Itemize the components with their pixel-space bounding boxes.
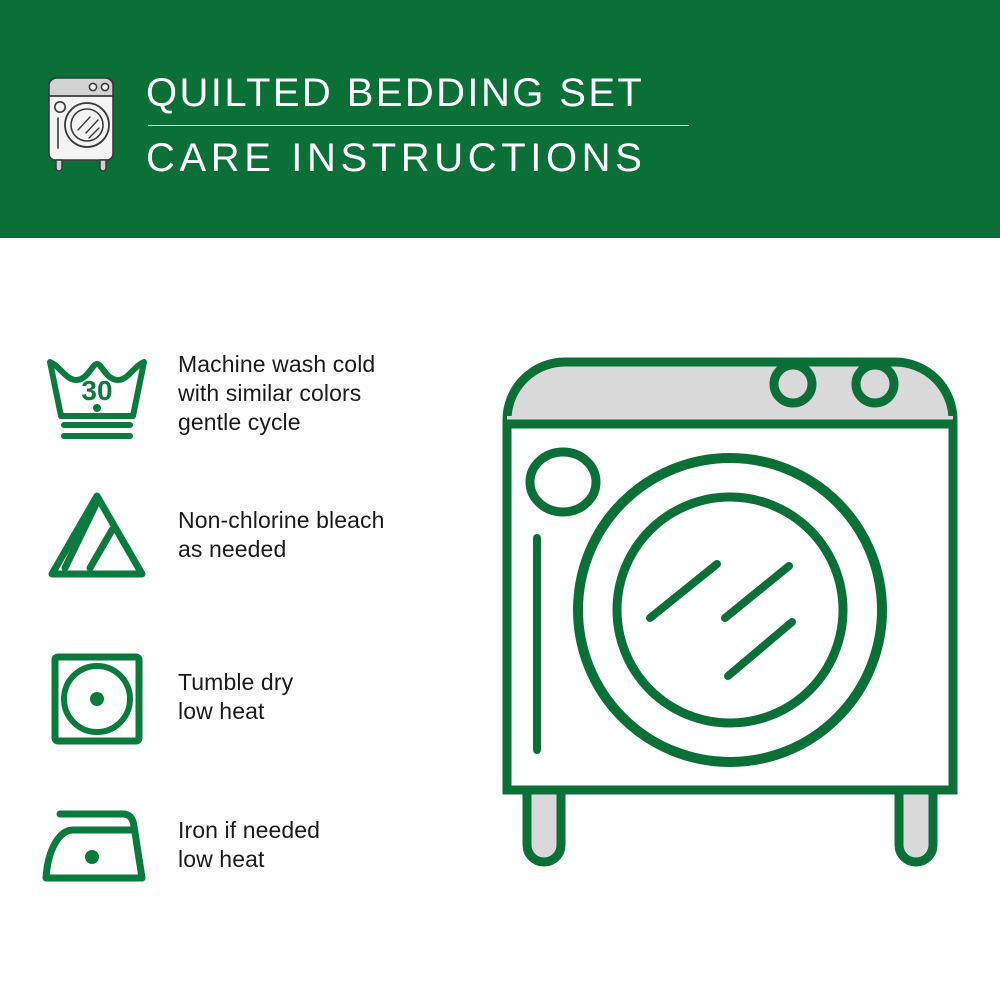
header-banner: QUILTED BEDDING SET CARE INSTRUCTIONS bbox=[0, 0, 1000, 238]
foot-right bbox=[899, 790, 933, 862]
care-text-dry: Tumble dry low heat bbox=[178, 668, 293, 726]
care-row-bleach: Non-chlorine bleach as needed bbox=[0, 476, 480, 594]
washing-machine-illustration bbox=[480, 320, 980, 940]
care-instruction-list: 30 Machine wash cold with similar colors… bbox=[0, 238, 480, 1000]
iron-icon bbox=[38, 786, 156, 904]
page-title: QUILTED BEDDING SET bbox=[146, 70, 691, 116]
detergent-port bbox=[530, 452, 596, 512]
washing-machine-icon bbox=[45, 72, 117, 172]
wash-temperature-label: 30 bbox=[81, 375, 112, 406]
care-row-wash: 30 Machine wash cold with similar colors… bbox=[0, 334, 480, 452]
bleach-triangle-icon bbox=[38, 476, 156, 594]
foot-left bbox=[527, 790, 561, 862]
wash-tub-icon: 30 bbox=[38, 334, 156, 452]
care-row-iron: Iron if needed low heat bbox=[0, 786, 480, 904]
header-text-block: QUILTED BEDDING SET CARE INSTRUCTIONS bbox=[146, 70, 691, 181]
header-divider bbox=[148, 125, 689, 126]
door-shine-lines bbox=[650, 564, 792, 676]
care-text-bleach: Non-chlorine bleach as needed bbox=[178, 506, 384, 564]
tumble-dry-icon bbox=[38, 638, 156, 756]
care-text-iron: Iron if needed low heat bbox=[178, 816, 320, 874]
care-row-dry: Tumble dry low heat bbox=[0, 638, 480, 756]
page-subtitle: CARE INSTRUCTIONS bbox=[146, 135, 691, 181]
care-text-wash: Machine wash cold with similar colors ge… bbox=[178, 350, 375, 437]
